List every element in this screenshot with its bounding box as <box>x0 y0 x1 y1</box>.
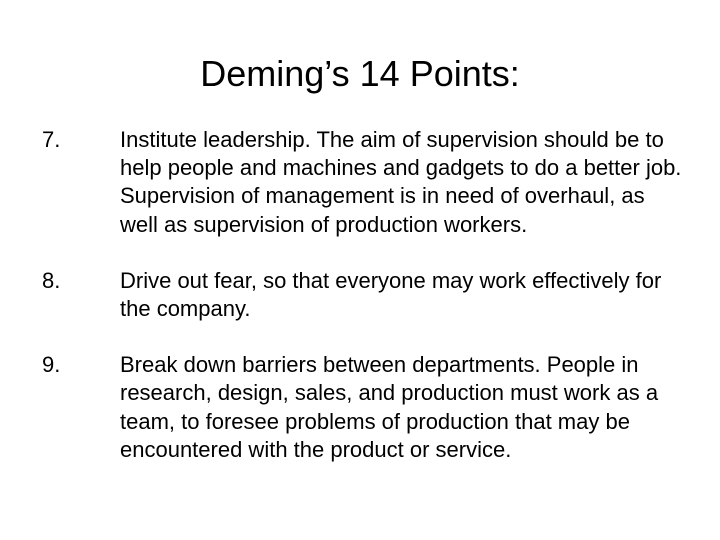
numbered-list: 7. Institute leadership. The aim of supe… <box>0 126 720 464</box>
list-item-text: Institute leadership. The aim of supervi… <box>120 126 686 239</box>
list-item: 7. Institute leadership. The aim of supe… <box>0 126 720 239</box>
list-item: 8. Drive out fear, so that everyone may … <box>0 267 720 323</box>
page-title: Deming’s 14 Points: <box>0 54 720 94</box>
list-item-number: 9. <box>42 351 102 379</box>
list-item-number: 8. <box>42 267 102 295</box>
list-item-text: Drive out fear, so that everyone may wor… <box>120 267 686 323</box>
list-item: 9. Break down barriers between departmen… <box>0 351 720 464</box>
list-item-number: 7. <box>42 126 102 154</box>
list-item-spacer <box>0 239 720 267</box>
list-item-spacer <box>0 323 720 351</box>
list-item-text: Break down barriers between departments.… <box>120 351 686 464</box>
slide-canvas: Deming’s 14 Points: 7. Institute leaders… <box>0 0 720 540</box>
